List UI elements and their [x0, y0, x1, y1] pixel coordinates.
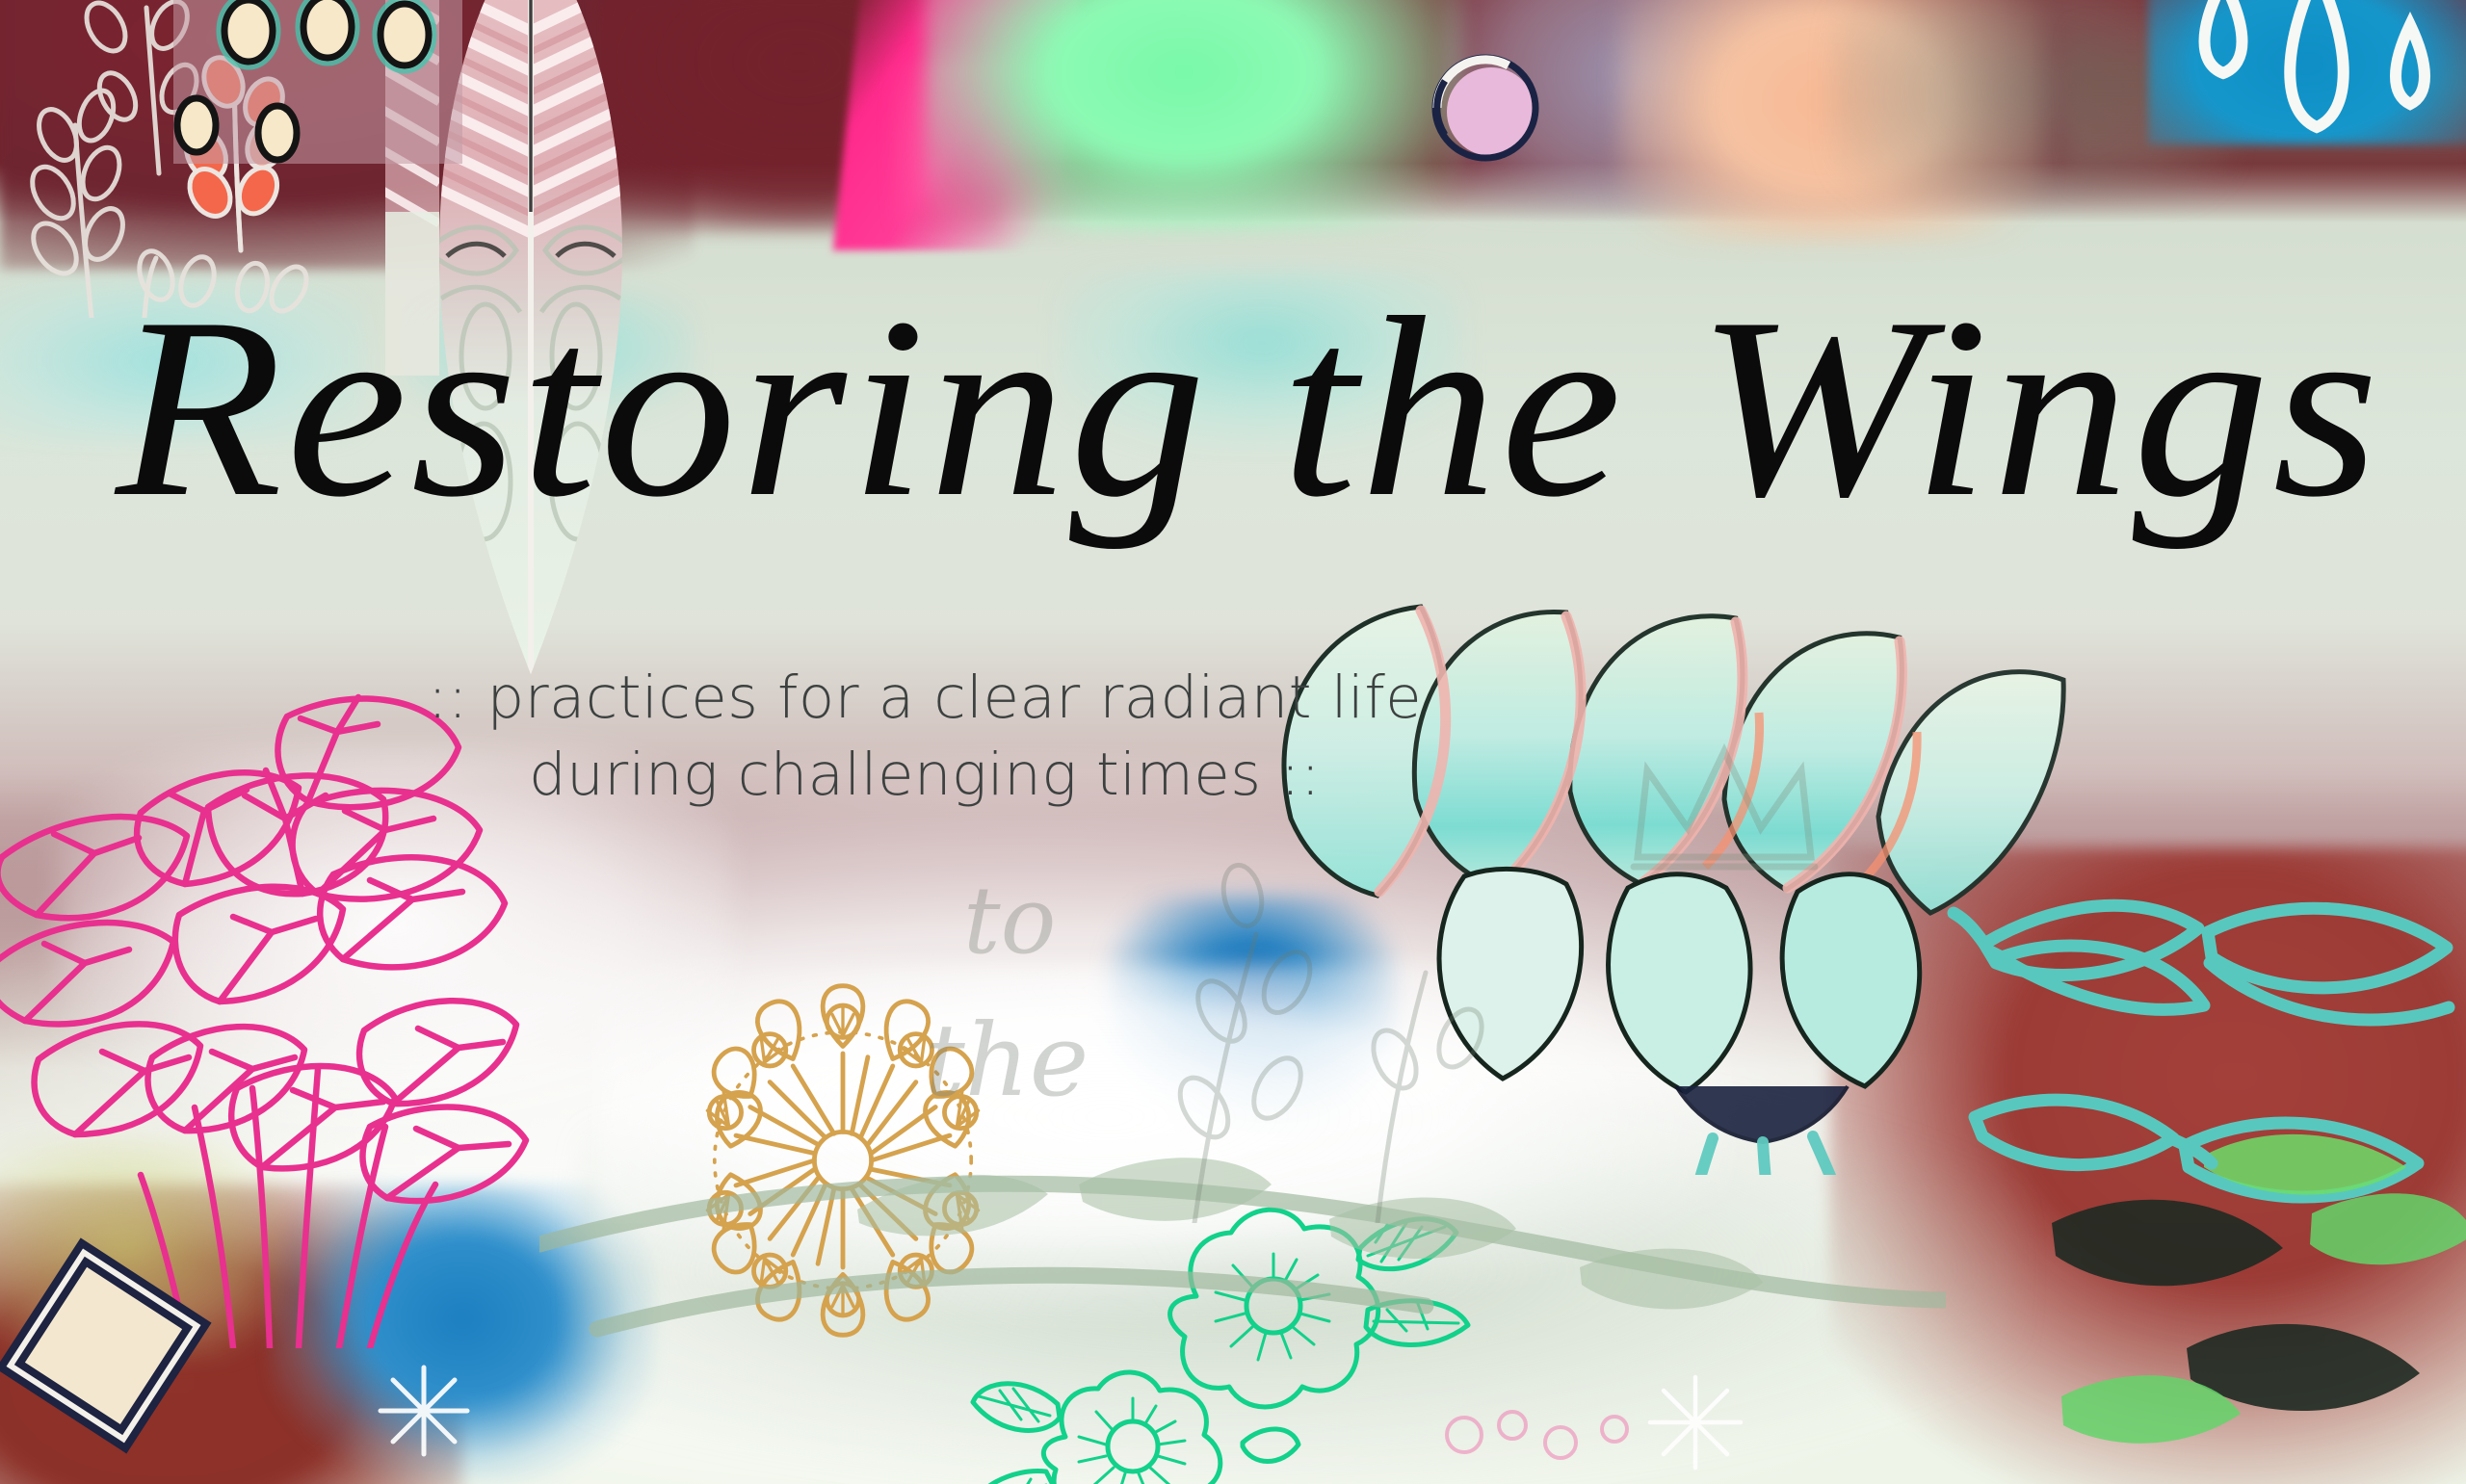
navy-circle-motif — [1416, 39, 1561, 183]
ghost-handwriting-the: the — [925, 1002, 1089, 1119]
grey-green-wash — [1830, 0, 2235, 202]
gold-mandala-motif — [665, 982, 1021, 1339]
teal-lineart-leaves — [1946, 828, 2466, 1290]
blue-wash-bottom-left — [270, 1185, 655, 1483]
dark-leaf-shapes — [2023, 1156, 2466, 1484]
maroon-wash-center — [597, 0, 1002, 231]
ghost-sprig-outlines — [1137, 819, 1541, 1223]
white-teardrop-outlines — [2148, 0, 2466, 193]
maroon-wash-top-left — [0, 0, 694, 270]
brick-red-wash-bottom-left — [0, 1185, 462, 1484]
oval-dot-pattern-motif — [173, 0, 462, 164]
sparkle-star-icon — [366, 1348, 520, 1483]
sage-stem-strokes — [539, 1040, 1946, 1425]
sparkle-star-icon-2 — [1638, 1367, 1772, 1483]
subtitle-line-1: :: practices for a clear radiant life — [428, 664, 1422, 732]
olive-wash-bottom-left — [0, 1136, 289, 1358]
blue-wash-center — [1108, 896, 1397, 1127]
white-mist-bottom — [597, 963, 1734, 1348]
hot-pink-wash — [833, 0, 1084, 250]
hot-pink-wash-soft — [896, 58, 1079, 231]
green-lineart-roses — [954, 1185, 1493, 1484]
lavender-wash — [1445, 0, 1849, 212]
brick-red-wash-right — [1830, 847, 2466, 1484]
ghost-handwriting-to: to — [963, 867, 1056, 975]
bright-mint-wash — [925, 0, 1464, 231]
blue-patch-top-right — [2148, 0, 2466, 144]
navy-diamond-motif — [0, 1233, 212, 1464]
brown-wash-top-right — [2071, 19, 2466, 193]
peach-wash — [1618, 0, 2042, 241]
sage-wash-bottom — [578, 1088, 2023, 1484]
page-subtitle: :: practices for a clear radiant life du… — [0, 664, 1849, 809]
page-title: Restoring the Wings — [116, 289, 2466, 527]
pink-blossom-accents — [1426, 1387, 1657, 1484]
subtitle-line-2: during challenging times :: — [0, 742, 1849, 809]
artwork-banner: to the — [0, 0, 2466, 1484]
